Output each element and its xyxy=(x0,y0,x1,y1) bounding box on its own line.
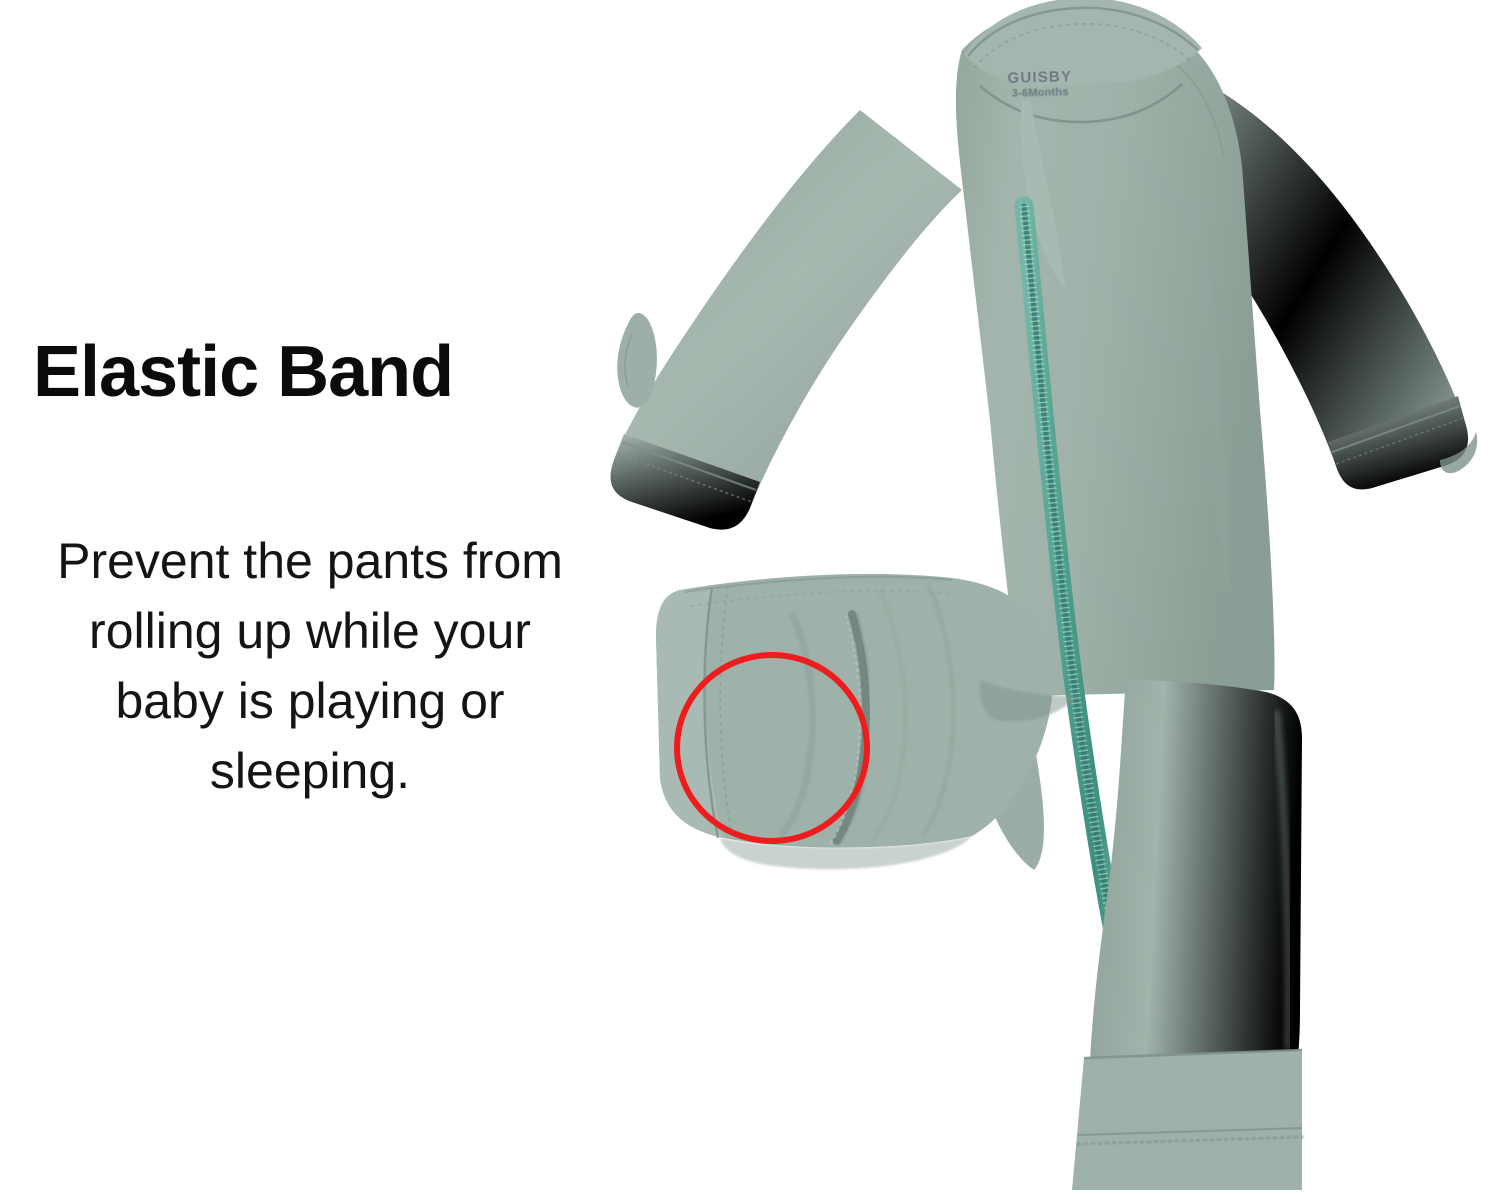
baby-romper-photo xyxy=(560,0,1500,1194)
feature-headline: Elastic Band xyxy=(33,336,453,408)
feature-description-line: Prevent the pants from xyxy=(0,526,620,596)
elastic-band-callout-circle xyxy=(674,652,870,844)
feature-description-line: rolling up while your xyxy=(0,596,620,666)
feature-description: Prevent the pants from rolling up while … xyxy=(0,526,620,806)
feature-description-line: sleeping. xyxy=(0,736,620,806)
brand-neck-label: GUISBY 3-6Months xyxy=(985,69,1096,101)
right-leg xyxy=(1072,680,1302,1190)
product-feature-image: GUISBY 3-6Months Elastic Band Prevent th… xyxy=(0,0,1500,1194)
feature-description-line: baby is playing or xyxy=(0,666,620,736)
torso xyxy=(956,4,1275,696)
left-sleeve xyxy=(611,110,962,530)
brand-name-text: GUISBY xyxy=(985,69,1095,88)
